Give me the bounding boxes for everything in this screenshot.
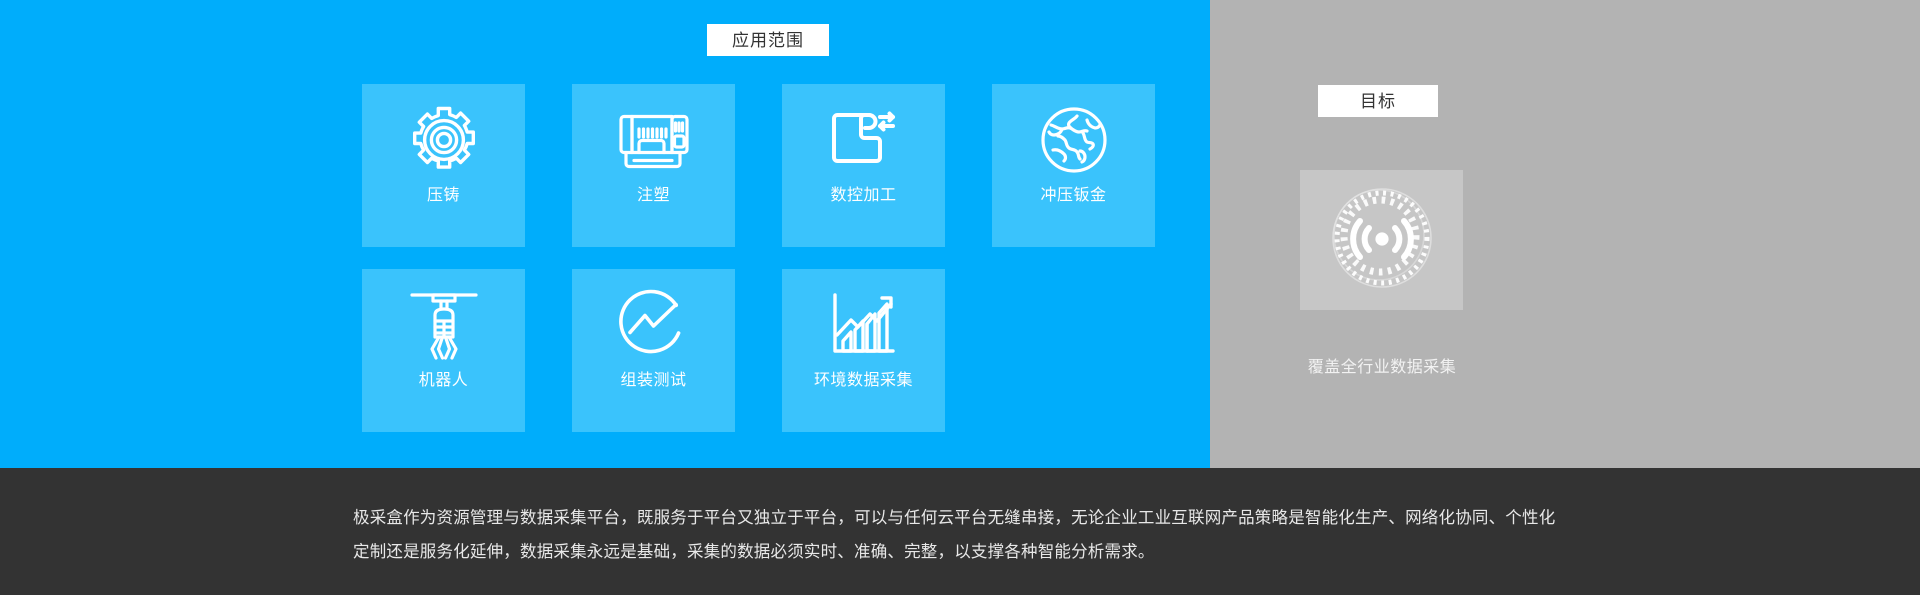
tile-cnc-machining[interactable]: 数控加工 [782, 84, 945, 247]
tile-label: 冲压钣金 [1040, 188, 1106, 204]
tile-label: 注塑 [637, 188, 670, 204]
tile-stamping-sheet-metal[interactable]: 冲压钣金 [992, 84, 1155, 247]
goal-card[interactable] [1300, 170, 1463, 310]
goal-panel: 目标 [1210, 0, 1920, 468]
tile-die-casting[interactable]: 压铸 [362, 84, 525, 247]
panels-container: 应用范围 压铸 [0, 0, 1920, 468]
line-chart-circle-icon [572, 269, 735, 373]
tile-label: 组装测试 [620, 373, 686, 389]
cnc-toolpath-icon [782, 84, 945, 188]
globe-icon [992, 84, 1155, 188]
injection-molding-machine-icon [572, 84, 735, 188]
wireless-signal-icon [1329, 185, 1435, 296]
tile-environmental-data-collection[interactable]: 环境数据采集 [782, 269, 945, 432]
application-scope-label: 应用范围 [707, 24, 829, 56]
application-scope-tile-grid: 压铸 [362, 84, 932, 432]
application-scope-panel: 应用范围 压铸 [0, 0, 1210, 468]
description-bar: 极采盒作为资源管理与数据采集平台，既服务于平台又独立于平台，可以与任何云平台无缝… [0, 468, 1920, 595]
gear-icon [362, 84, 525, 188]
description-text: 极采盒作为资源管理与数据采集平台，既服务于平台又独立于平台，可以与任何云平台无缝… [353, 501, 1567, 569]
goal-label: 目标 [1318, 85, 1438, 117]
robot-gripper-icon [362, 269, 525, 373]
tile-injection-molding[interactable]: 注塑 [572, 84, 735, 247]
tile-label: 机器人 [419, 373, 469, 389]
tile-label: 环境数据采集 [814, 373, 913, 389]
page-root: 应用范围 压铸 [0, 0, 1920, 595]
tile-label: 压铸 [427, 188, 460, 204]
tile-assembly-test[interactable]: 组装测试 [572, 269, 735, 432]
tile-label: 数控加工 [830, 188, 896, 204]
bar-chart-growth-icon [782, 269, 945, 373]
goal-caption: 覆盖全行业数据采集 [1210, 360, 1554, 376]
tile-robot[interactable]: 机器人 [362, 269, 525, 432]
